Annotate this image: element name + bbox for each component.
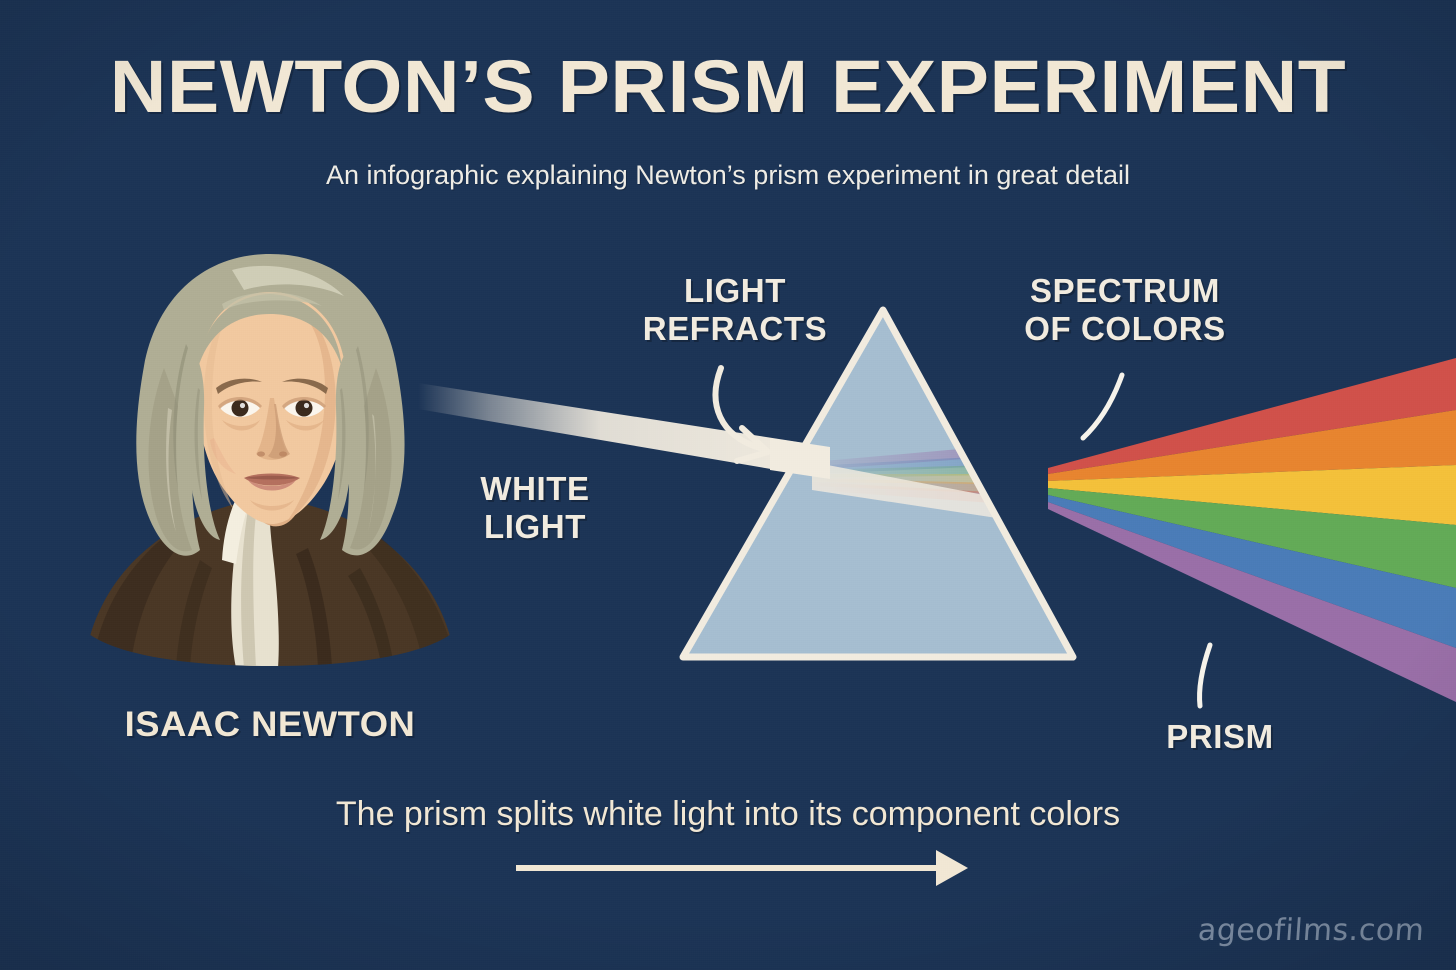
label-spectrum-line2: OF COLORS — [1000, 310, 1250, 348]
label-spectrum-of-colors: SPECTRUM OF COLORS — [1000, 272, 1250, 348]
newton-nostril-right — [279, 451, 287, 456]
label-light-refracts: LIGHT REFRACTS — [620, 272, 850, 348]
infographic-canvas: ISAAC NEWTON NEWTON’S PRISM EXPERIMENT A… — [0, 0, 1456, 970]
page-title: NEWTON’S PRISM EXPERIMENT — [0, 45, 1456, 129]
label-spectrum-line1: SPECTRUM — [1000, 272, 1250, 310]
bottom-direction-arrow — [516, 850, 968, 886]
page-subtitle: An infographic explaining Newton’s prism… — [0, 158, 1456, 192]
white-light-beam — [418, 383, 824, 478]
label-white-light: WHITE LIGHT — [440, 470, 630, 546]
spectrum-pointer-line — [1083, 375, 1122, 438]
newton-nostril-left — [257, 451, 265, 456]
newton-name-label: ISAAC NEWTON — [64, 705, 476, 745]
label-light-refracts-line1: LIGHT — [620, 272, 850, 310]
prism-pointer-line — [1199, 645, 1210, 706]
newton-portrait — [72, 248, 468, 668]
label-white-light-line1: WHITE — [440, 470, 630, 508]
prism — [683, 310, 1073, 657]
spectrum-fan — [1048, 358, 1456, 702]
label-light-refracts-line2: REFRACTS — [620, 310, 850, 348]
label-prism: PRISM — [1120, 718, 1320, 756]
bottom-caption: The prism splits white light into its co… — [0, 793, 1456, 835]
label-white-light-line2: LIGHT — [440, 508, 630, 546]
watermark: ageofilms.com — [1196, 913, 1425, 948]
